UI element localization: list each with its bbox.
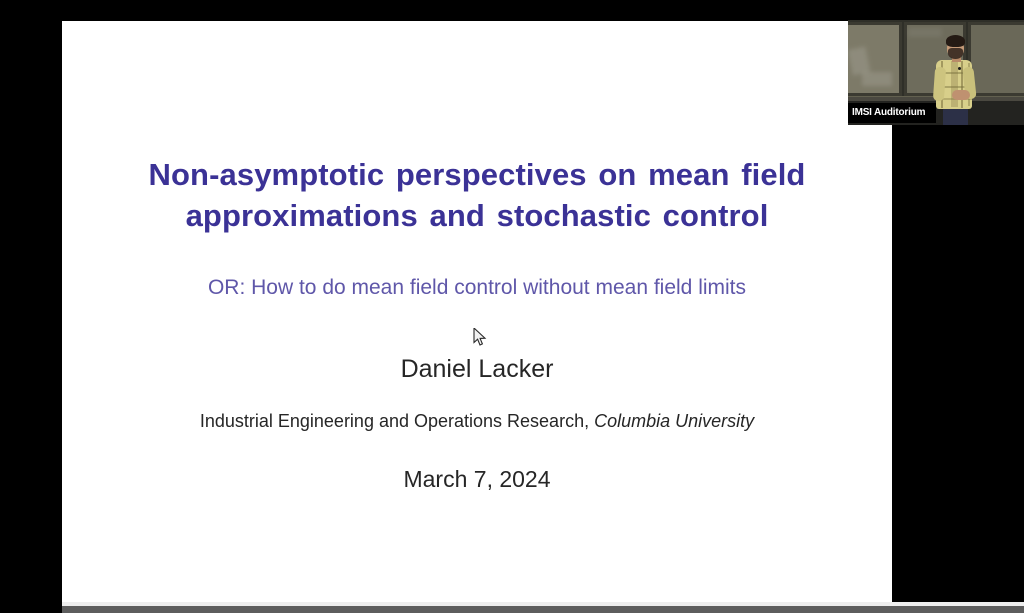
- slide-canvas[interactable]: Non-asymptotic perspectives on mean fiel…: [62, 21, 892, 602]
- webcam-overlay[interactable]: IMSI Auditorium: [848, 20, 1024, 125]
- chalkboard-glare: [862, 72, 892, 86]
- viewer-bottom-bar[interactable]: [62, 606, 1024, 613]
- slide-content: Non-asymptotic perspectives on mean fiel…: [62, 21, 892, 602]
- affiliation-department: Industrial Engineering and Operations Re…: [200, 411, 589, 431]
- chalkboard-glare: [908, 28, 942, 37]
- slide-title-line-1: Non-asymptotic perspectives on mean fiel…: [102, 154, 852, 195]
- slide-subtitle: OR: How to do mean field control without…: [102, 274, 852, 302]
- presenter-beard: [948, 48, 963, 59]
- chalkboard-panel: [968, 22, 1024, 96]
- presentation-viewer: Non-asymptotic perspectives on mean fiel…: [0, 0, 1024, 613]
- slide-title: Non-asymptotic perspectives on mean fiel…: [102, 154, 852, 236]
- slide-title-line-2: approximations and stochastic control: [102, 195, 852, 236]
- shirt-plaid-stripe: [961, 61, 963, 108]
- webcam-caption-label: IMSI Auditorium: [848, 107, 925, 119]
- presenter-arm-left: [933, 67, 946, 102]
- slide-date: March 7, 2024: [102, 464, 852, 494]
- lapel-microphone-icon: [958, 67, 961, 70]
- presenter-shirt-placket: [951, 61, 958, 107]
- slide-author: Daniel Lacker: [102, 353, 852, 385]
- slide-affiliation: Industrial Engineering and Operations Re…: [82, 409, 872, 433]
- presenter-hair: [946, 35, 965, 47]
- presenter-legs: [943, 107, 968, 125]
- webcam-caption: IMSI Auditorium: [848, 103, 936, 123]
- affiliation-institution: Columbia University: [594, 411, 754, 431]
- presenter-hands: [952, 90, 970, 100]
